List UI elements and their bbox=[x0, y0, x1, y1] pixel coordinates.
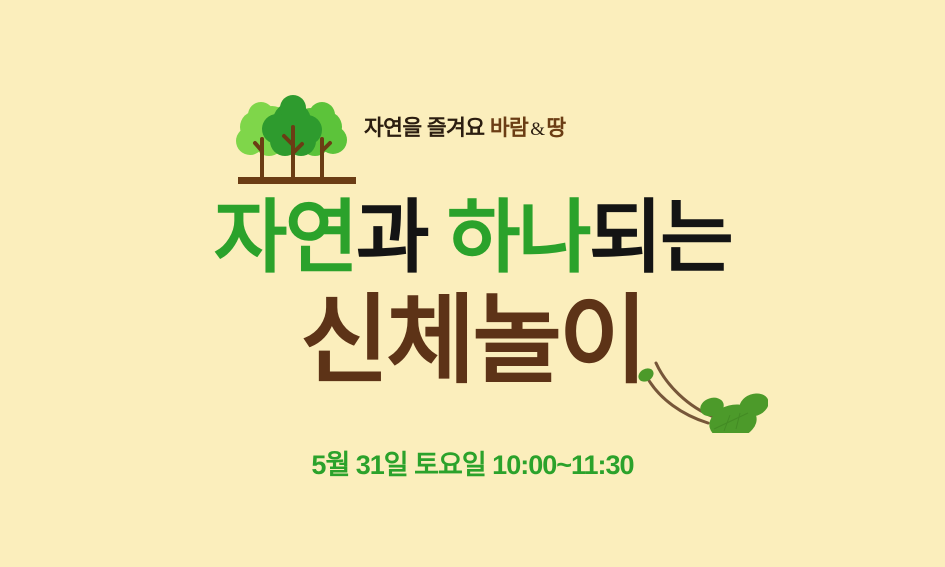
three-trees-icon bbox=[236, 93, 358, 188]
headline-seg-gwa: 과 bbox=[356, 193, 427, 282]
ampersand-glyph: & bbox=[528, 119, 546, 140]
headline-seg-doeneun: 되는 bbox=[589, 193, 731, 282]
headline-seg-sinchenori: 신체놀이 bbox=[300, 286, 645, 395]
poster-canvas: 자연을 즐겨요 바람&땅 자연과 하나되는 신체놀이 bbox=[0, 0, 945, 567]
headline-seg-hana: 하나 bbox=[447, 193, 589, 282]
leaf-swoosh-icon bbox=[636, 345, 768, 433]
ground-line bbox=[238, 177, 356, 184]
headline-block: 자연과 하나되는 신체놀이 bbox=[0, 196, 945, 394]
brand-name-right: 땅 bbox=[546, 116, 565, 140]
headline-line-1: 자연과 하나되는 bbox=[0, 196, 945, 281]
brand-tagline: 자연을 즐겨요 바람&땅 bbox=[364, 118, 566, 140]
leaf-small-left bbox=[636, 366, 656, 384]
schedule-text: 5월 31일 토요일 10:00~11:30 bbox=[0, 443, 945, 482]
brand-name-left: 바람 bbox=[490, 116, 528, 140]
headline-line-2: 신체놀이 bbox=[0, 289, 945, 394]
tagline-plain-text: 자연을 즐겨요 bbox=[364, 116, 484, 140]
brand-logo-block: 자연을 즐겨요 바람&땅 bbox=[236, 93, 706, 188]
headline-seg-jayeon: 자연 bbox=[214, 193, 356, 282]
